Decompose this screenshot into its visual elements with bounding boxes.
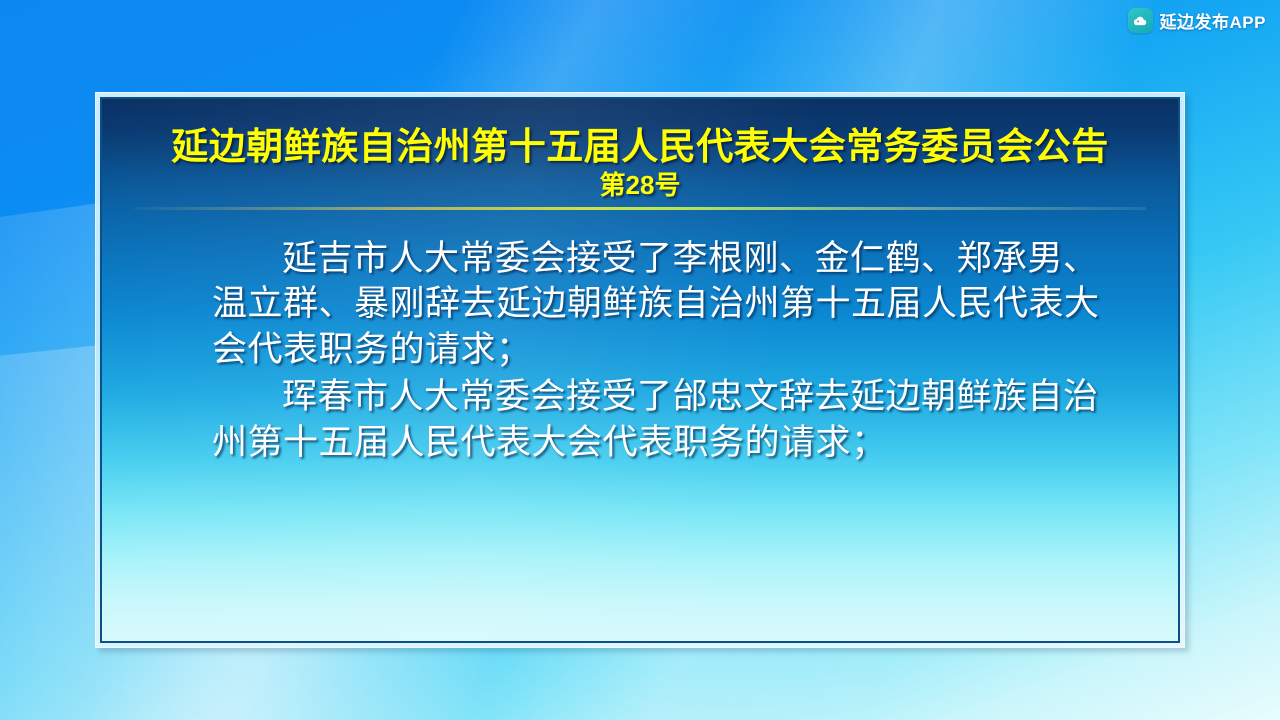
announcement-panel: 延边朝鲜族自治州第十五届人民代表大会常务委员会公告 第28号 延吉市人大常委会接…: [95, 92, 1185, 648]
page-title: 延边朝鲜族自治州第十五届人民代表大会常务委员会公告: [102, 125, 1178, 169]
document-number: 第28号: [102, 171, 1178, 201]
broadcast-slide: 延边发布APP 延边朝鲜族自治州第十五届人民代表大会常务委员会公告 第28号 延…: [0, 0, 1280, 720]
cloud-icon: [1128, 8, 1153, 33]
watermark-label: 延边发布APP: [1160, 8, 1266, 33]
body-paragraph: 珲春市人大常委会接受了邰忠文辞去延边朝鲜族自治州第十五届人民代表大会代表职务的请…: [212, 374, 1120, 465]
body-paragraph: 延吉市人大常委会接受了李根刚、金仁鹤、郑承男、温立群、暴刚辞去延边朝鲜族自治州第…: [212, 236, 1120, 373]
channel-watermark: 延边发布APP: [1128, 8, 1266, 33]
announcement-header: 延边朝鲜族自治州第十五届人民代表大会常务委员会公告 第28号: [102, 99, 1178, 210]
announcement-panel-inner: 延边朝鲜族自治州第十五届人民代表大会常务委员会公告 第28号 延吉市人大常委会接…: [100, 97, 1180, 643]
title-divider: [134, 207, 1145, 210]
announcement-body: 延吉市人大常委会接受了李根刚、金仁鹤、郑承男、温立群、暴刚辞去延边朝鲜族自治州第…: [102, 236, 1178, 466]
